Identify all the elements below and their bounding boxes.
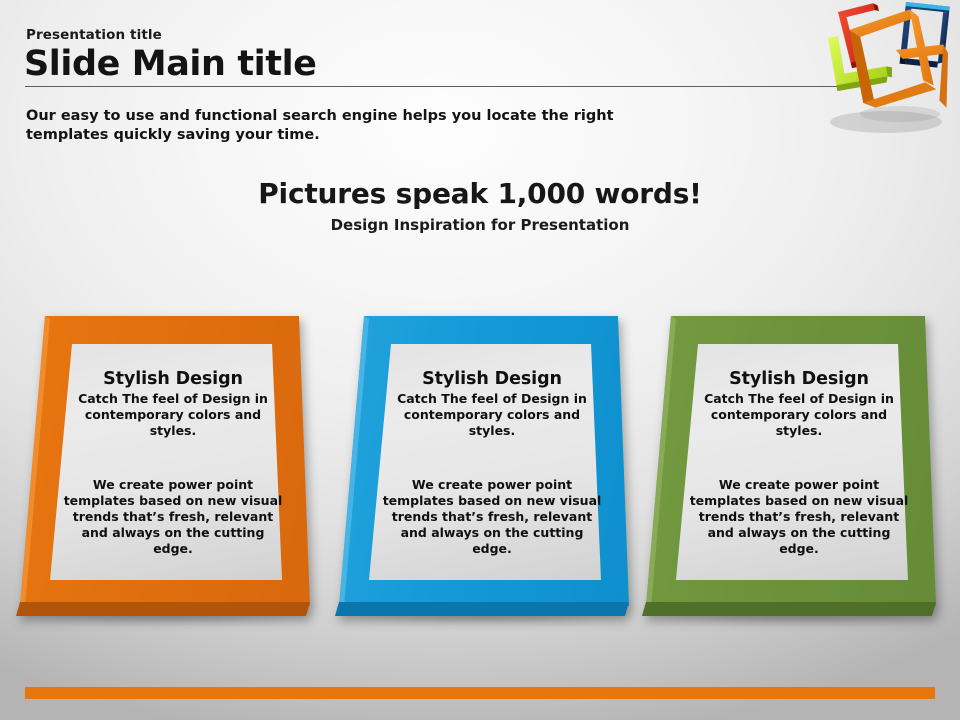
frames-row: Stylish Design Catch The feel of Design … — [0, 300, 960, 650]
frame-card-orange[interactable]: Stylish Design Catch The feel of Design … — [14, 300, 314, 640]
slide-subheading: Our easy to use and functional search en… — [26, 107, 626, 145]
overlapping-frames-logo-icon — [810, 0, 960, 144]
center-heading: Pictures speak 1,000 words! — [0, 177, 960, 210]
frame-text-block: Stylish Design Catch The feel of Design … — [389, 368, 595, 557]
bottom-accent-bar — [25, 687, 935, 699]
frame-body-text: We create power point templates based on… — [688, 477, 910, 557]
frame-body-text: We create power point templates based on… — [381, 477, 603, 557]
frame-lead-text: Catch The feel of Design in contemporary… — [696, 391, 902, 439]
frame-text-block: Stylish Design Catch The feel of Design … — [696, 368, 902, 557]
frame-title: Stylish Design — [70, 368, 276, 390]
slide-main-title: Slide Main title — [24, 44, 317, 84]
frame-text-block: Stylish Design Catch The feel of Design … — [70, 368, 276, 557]
frame-lead-text: Catch The feel of Design in contemporary… — [70, 391, 276, 439]
center-subheading: Design Inspiration for Presentation — [0, 216, 960, 234]
frame-card-green[interactable]: Stylish Design Catch The feel of Design … — [640, 300, 940, 640]
presentation-slide: Presentation title Slide Main title Our … — [0, 0, 960, 720]
frame-title: Stylish Design — [389, 368, 595, 390]
title-divider-rule — [25, 86, 851, 87]
frame-body-text: We create power point templates based on… — [62, 477, 284, 557]
frame-title: Stylish Design — [696, 368, 902, 390]
presentation-title-label: Presentation title — [26, 27, 162, 43]
frame-lead-text: Catch The feel of Design in contemporary… — [389, 391, 595, 439]
frame-card-blue[interactable]: Stylish Design Catch The feel of Design … — [333, 300, 633, 640]
